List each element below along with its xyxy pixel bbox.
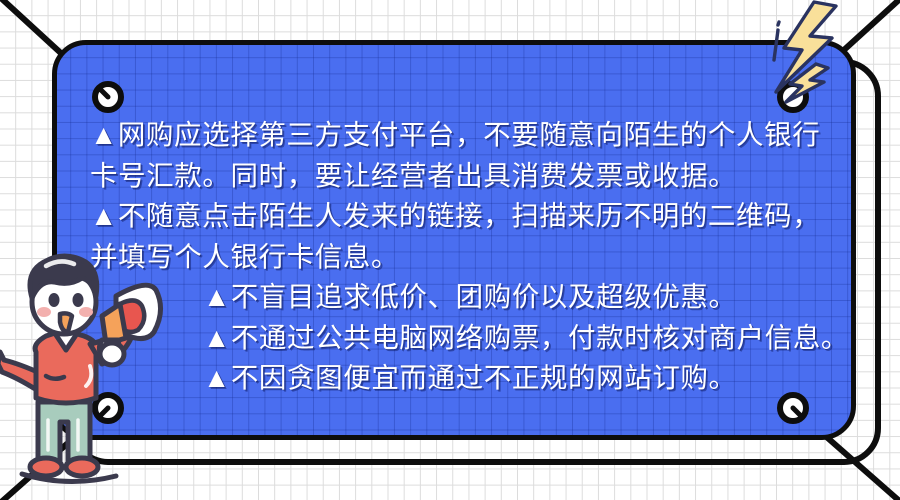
pants — [38, 402, 90, 464]
boy-with-megaphone-illustration — [0, 252, 183, 500]
cheek-right — [79, 307, 93, 317]
mouth — [60, 313, 72, 332]
hand-right — [100, 343, 124, 365]
pin-bottom-right — [780, 395, 806, 421]
bolt-accent-stroke — [774, 30, 778, 60]
shoe-right — [66, 458, 98, 476]
eye-right — [73, 293, 84, 307]
pin-top-left — [95, 84, 121, 110]
shoe-left — [30, 458, 62, 476]
eye-left — [49, 293, 60, 307]
bolt-accent-dot — [778, 22, 779, 25]
cheek-left — [37, 307, 51, 317]
poster-canvas: ▲网购应选择第三方支付平台，不要随意向陌生的个人银行 卡号汇款。同时，要让经营者… — [0, 0, 900, 500]
lightning-bolt-group — [744, 0, 874, 125]
